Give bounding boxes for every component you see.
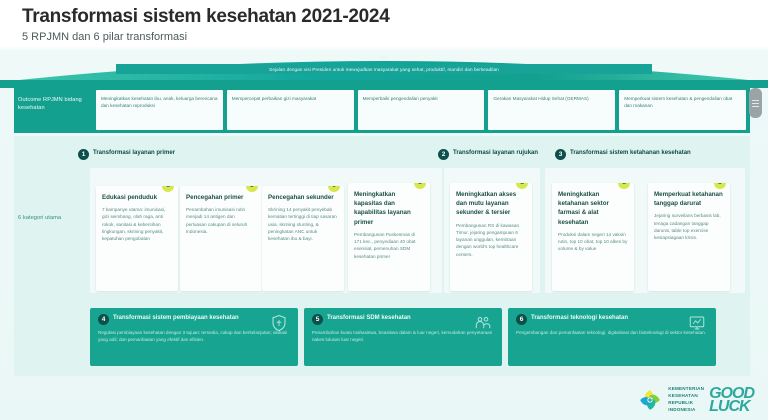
outcome-card: Mempercepat perbaikan gizi masyarakat: [227, 90, 354, 130]
pillar-label: Transformasi teknologi kesehatan: [531, 314, 628, 322]
card-title: Meningkatkan ketahanan sektor farmasi & …: [558, 190, 628, 227]
handle-line: [752, 106, 759, 107]
card-body: Pembangunan Puskesmas di 171 kec., penye…: [354, 231, 424, 260]
outcome-card: Gerakan Masyarakat Hidup Sehat (GERMAS): [488, 90, 615, 130]
card-letter-badge: a: [618, 183, 630, 189]
card-title: Pencegahan primer: [186, 193, 256, 202]
outcome-card: Memperbaiki pengendalian penyakit: [358, 90, 485, 130]
pillar-header-row: 1 Transformasi layanan primer 2 Transfor…: [78, 148, 750, 170]
pillar-label: Transformasi layanan rujukan: [453, 149, 538, 157]
pillar-number-badge: 4: [98, 314, 109, 325]
kategori-label: 6 kategori utama: [18, 214, 88, 223]
pillar-header-3: 3 Transformasi sistem ketahanan kesehata…: [555, 149, 725, 160]
card-title: Meningkatkan akses dan mutu layanan seku…: [456, 190, 526, 218]
bottom-pillar-4[interactable]: 4 Transformasi sistem pembiayaan kesehat…: [90, 308, 298, 366]
ministry-line-3: REPUBLIK: [668, 400, 704, 407]
ministry-name: KEMENTERIAN KESEHATAN REPUBLIK INDONESIA: [668, 386, 704, 414]
goodluck-mark: GOOD LUCK: [709, 387, 754, 413]
pillar-number-badge: 1: [78, 149, 89, 160]
card-body: Penambahan imunisasi rutin menjadi 14 an…: [186, 206, 256, 235]
ministry-line-2: KESEHATAN: [668, 393, 704, 400]
page-header: Transformasi sistem kesehatan 2021-2024 …: [22, 6, 389, 43]
bottom-pillar-header: 6 Transformasi teknologi kesehatan: [516, 314, 708, 325]
pillar-label: Transformasi sistem pembiayaan kesehatan: [113, 314, 239, 322]
shield-icon: [270, 314, 288, 332]
pillar-body: Pengembangan dan pemanfaatan teknologi, …: [516, 329, 708, 336]
outcome-card: Memperkuat sistem kesehatan & pengendali…: [619, 90, 746, 130]
card-body: Produksi dalam negeri 14 vaksin rutin, t…: [558, 231, 628, 253]
visi-label: visi: [0, 55, 768, 60]
card-letter-badge: c: [328, 186, 340, 192]
ministry-line-1: KEMENTERIAN: [668, 386, 704, 393]
pillar-header-2: 2 Transformasi layanan rujukan: [438, 149, 548, 160]
visi-text: Sejalan dengan visi Presiden untuk mewuj…: [269, 67, 499, 72]
handle-line: [752, 100, 759, 101]
detail-card[interactable]: b Pencegahan primer Penambahan imunisasi…: [180, 186, 262, 291]
pillar-header-1: 1 Transformasi layanan primer: [78, 149, 258, 160]
card-letter-badge: d: [414, 183, 426, 189]
handle-line: [752, 103, 759, 104]
card-body: Pembangunan RS di kawasan Timur, jejarin…: [456, 222, 526, 258]
card-title: Pencegahan sekunder: [268, 193, 338, 202]
card-letter-badge: a: [162, 186, 174, 192]
outcome-strip-label: Outcome RPJMN bidang kesehatan: [18, 96, 92, 112]
monitor-icon: [688, 314, 706, 332]
ministry-line-4: INDONESIA: [668, 407, 704, 414]
roof-banner: visi Sejalan dengan visi Presiden untuk …: [0, 52, 768, 88]
card-title: Memperkuat ketahanan tanggap darurat: [654, 190, 724, 208]
goodluck-line-2: LUCK: [709, 400, 754, 413]
outcome-card-list: Meningkatkan kesehatan ibu, anak, keluar…: [96, 90, 746, 130]
detail-card[interactable]: a Meningkatkan ketahanan sektor farmasi …: [552, 183, 634, 291]
detail-card[interactable]: a Meningkatkan akses dan mutu layanan se…: [450, 183, 532, 291]
detail-card[interactable]: a Edukasi penduduk 7 kampanye utama: imu…: [96, 186, 178, 291]
pillar-label: Transformasi layanan primer: [93, 149, 175, 157]
bottom-pillar-row: 4 Transformasi sistem pembiayaan kesehat…: [90, 308, 750, 370]
detail-card[interactable]: b Memperkuat ketahanan tanggap darurat J…: [648, 183, 730, 291]
pillar-number-badge: 6: [516, 314, 527, 325]
scroll-handle[interactable]: [749, 88, 762, 118]
card-letter-badge: b: [714, 183, 726, 189]
card-title: Meningkatkan kapasitas dan kapabilitas l…: [354, 190, 424, 227]
footer-logo-group: KEMENTERIAN KESEHATAN REPUBLIK INDONESIA…: [637, 386, 754, 414]
kemenkes-logo-icon: [637, 387, 663, 413]
pillar-number-badge: 5: [312, 314, 323, 325]
infographic-page: Transformasi sistem kesehatan 2021-2024 …: [0, 0, 768, 420]
pillar-number-badge: 3: [555, 149, 566, 160]
card-body: 7 kampanye utama: imunisasi, gizi seimba…: [102, 206, 172, 242]
bottom-pillar-header: 5 Transformasi SDM kesehatan: [312, 314, 494, 325]
pillar-body: Regulasi pembiayaan kesehatan dengan 3 t…: [98, 329, 290, 344]
detail-card[interactable]: c Pencegahan sekunder Skrining 14 penyak…: [262, 186, 344, 291]
visi-banner: Sejalan dengan visi Presiden untuk mewuj…: [116, 64, 652, 74]
bottom-pillar-5[interactable]: 5 Transformasi SDM kesehatan Penambahan …: [304, 308, 502, 366]
bottom-pillar-header: 4 Transformasi sistem pembiayaan kesehat…: [98, 314, 290, 325]
pillar-label: Transformasi SDM kesehatan: [327, 314, 411, 322]
pillar-body: Penambahan kuota mahasiswa, beasiswa dal…: [312, 329, 494, 344]
page-subtitle: 5 RPJMN dan 6 pilar transformasi: [22, 31, 389, 43]
card-body: Jejaring surveilans berbasis lab, tenaga…: [654, 212, 724, 241]
card-letter-badge: a: [516, 183, 528, 189]
outcome-card: Meningkatkan kesehatan ibu, anak, keluar…: [96, 90, 223, 130]
bottom-pillar-6[interactable]: 6 Transformasi teknologi kesehatan Penge…: [508, 308, 716, 366]
page-title: Transformasi sistem kesehatan 2021-2024: [22, 6, 389, 28]
card-title: Edukasi penduduk: [102, 193, 172, 202]
card-body: Skrining 14 penyakit penyebab kematian t…: [268, 206, 338, 242]
card-letter-badge: b: [246, 186, 258, 192]
detail-card[interactable]: d Meningkatkan kapasitas dan kapabilitas…: [348, 183, 430, 291]
pillar-label: Transformasi sistem ketahanan kesehatan: [570, 149, 691, 157]
pillar-number-badge: 2: [438, 149, 449, 160]
people-icon: [474, 314, 492, 332]
